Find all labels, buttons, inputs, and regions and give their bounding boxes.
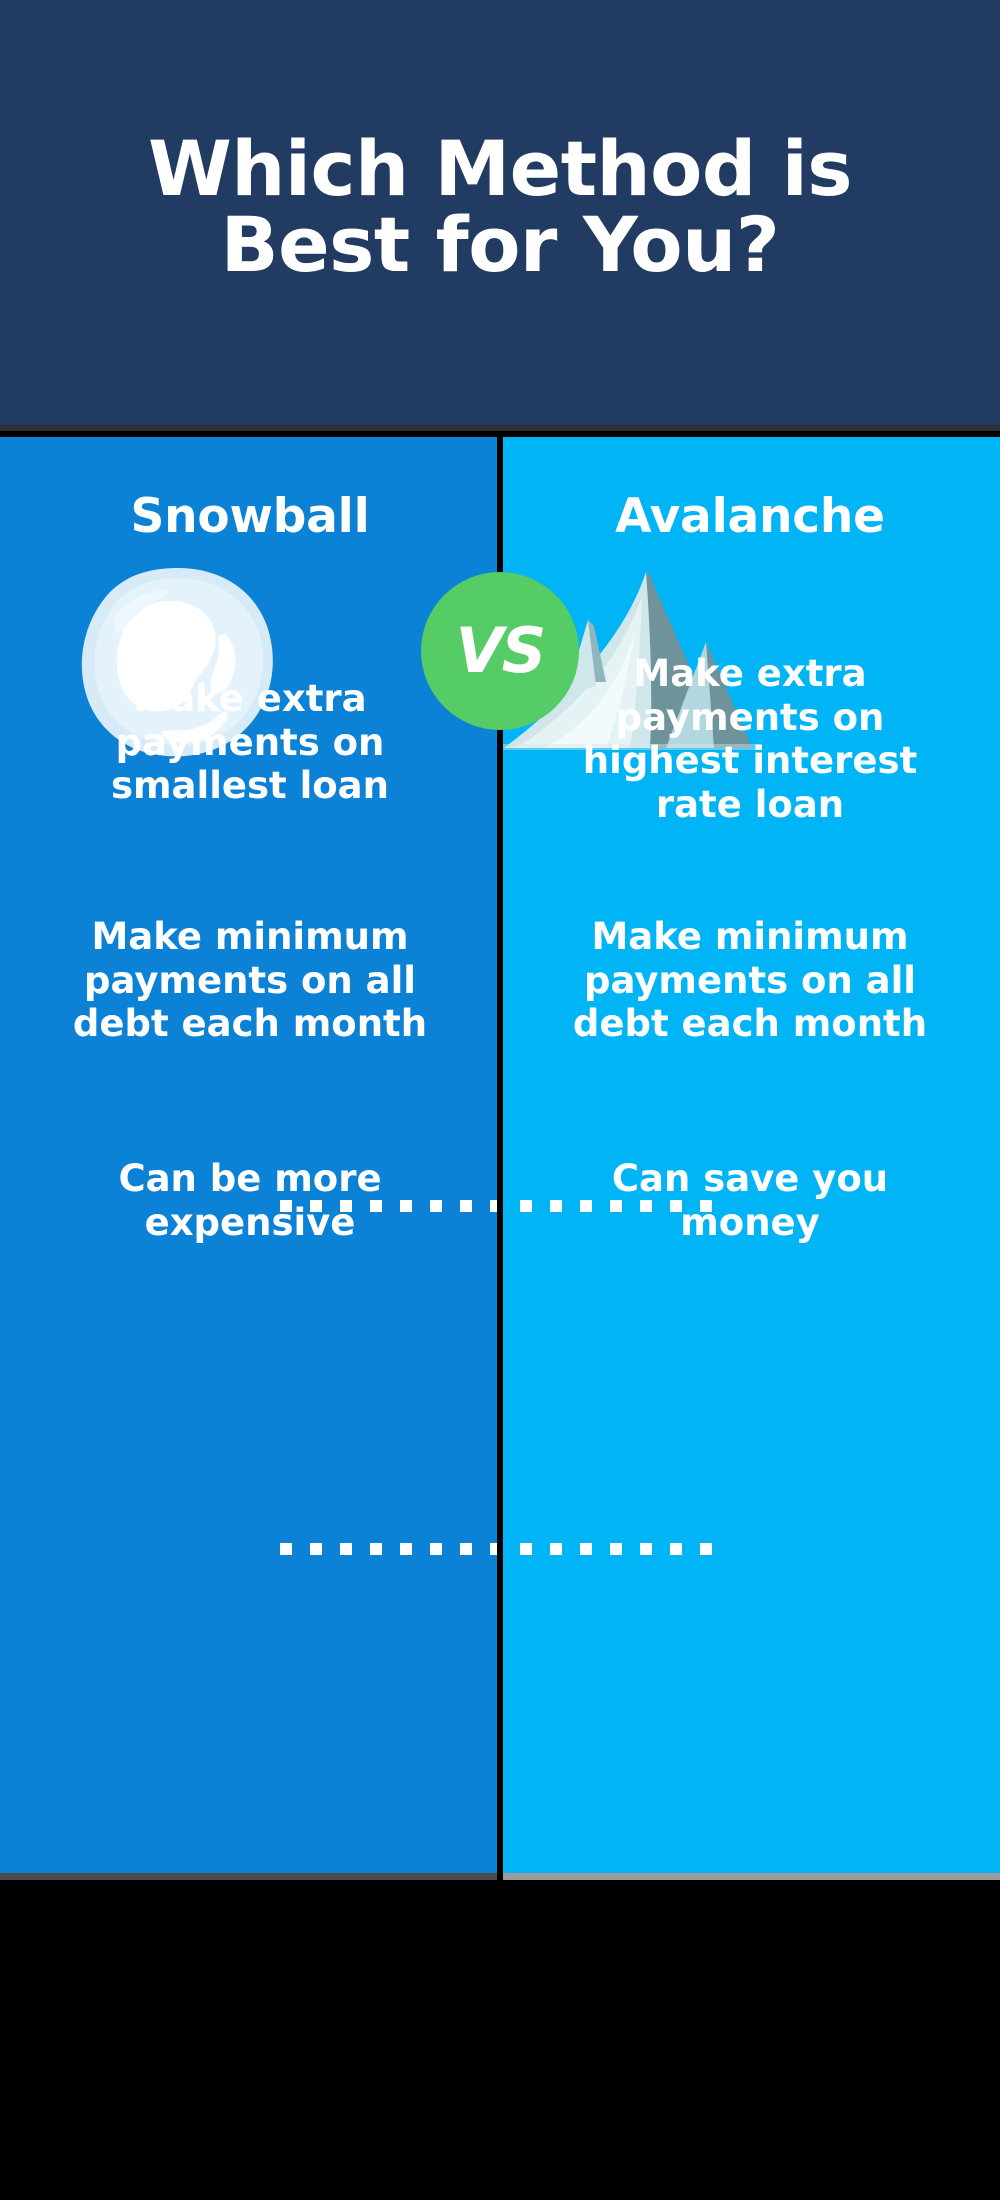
separator-dot xyxy=(460,1543,472,1555)
separator-dot xyxy=(550,1543,562,1555)
separator-dot xyxy=(610,1200,622,1212)
separator-dot xyxy=(550,1200,562,1212)
row-separator-1 xyxy=(280,1200,712,1212)
fact-avalanche-2: Make minimum payments on all debt each m… xyxy=(500,915,1000,1046)
fact-avalanche-1: Make extra payments on highest interest … xyxy=(500,652,1000,827)
fact-snowball-1: Make extra payments on smallest loan xyxy=(0,677,500,808)
separator-dot xyxy=(460,1200,472,1212)
separator-dot xyxy=(340,1200,352,1212)
separator-dot xyxy=(280,1200,292,1212)
separator-dot xyxy=(520,1543,532,1555)
separator-dot xyxy=(430,1543,442,1555)
header-banner: Which Method is Best for You? xyxy=(0,0,1000,425)
separator-dot xyxy=(700,1200,712,1212)
fact-snowball-2: Make minimum payments on all debt each m… xyxy=(0,915,500,1046)
separator-dot xyxy=(640,1543,652,1555)
column-heading-snowball: Snowball xyxy=(0,489,500,544)
separator-dot xyxy=(580,1200,592,1212)
separator-dot xyxy=(370,1543,382,1555)
separator-dot xyxy=(670,1543,682,1555)
footer-black-area xyxy=(0,1880,1000,2200)
row-separator-2 xyxy=(280,1543,712,1555)
separator-dot xyxy=(610,1543,622,1555)
separator-dot xyxy=(700,1543,712,1555)
separator-dot xyxy=(400,1543,412,1555)
separator-dot xyxy=(640,1200,652,1212)
separator-dot xyxy=(310,1200,322,1212)
separator-dot xyxy=(340,1543,352,1555)
separator-dot xyxy=(370,1200,382,1212)
separator-dot xyxy=(670,1200,682,1212)
panel-bottom-edge-right xyxy=(503,1873,1000,1880)
separator-dot xyxy=(310,1543,322,1555)
infographic-page: Which Method is Best for You? Snowball xyxy=(0,0,1000,2200)
separator-dot xyxy=(520,1200,532,1212)
separator-dot xyxy=(400,1200,412,1212)
vs-badge: VS xyxy=(421,572,579,730)
panel-bottom-edge-left xyxy=(0,1873,500,1880)
vs-label: VS xyxy=(456,620,545,682)
separator-dot xyxy=(580,1543,592,1555)
separator-dot xyxy=(430,1200,442,1212)
page-title: Which Method is Best for You? xyxy=(70,131,930,295)
separator-dot xyxy=(280,1543,292,1555)
column-heading-avalanche: Avalanche xyxy=(500,489,1000,544)
